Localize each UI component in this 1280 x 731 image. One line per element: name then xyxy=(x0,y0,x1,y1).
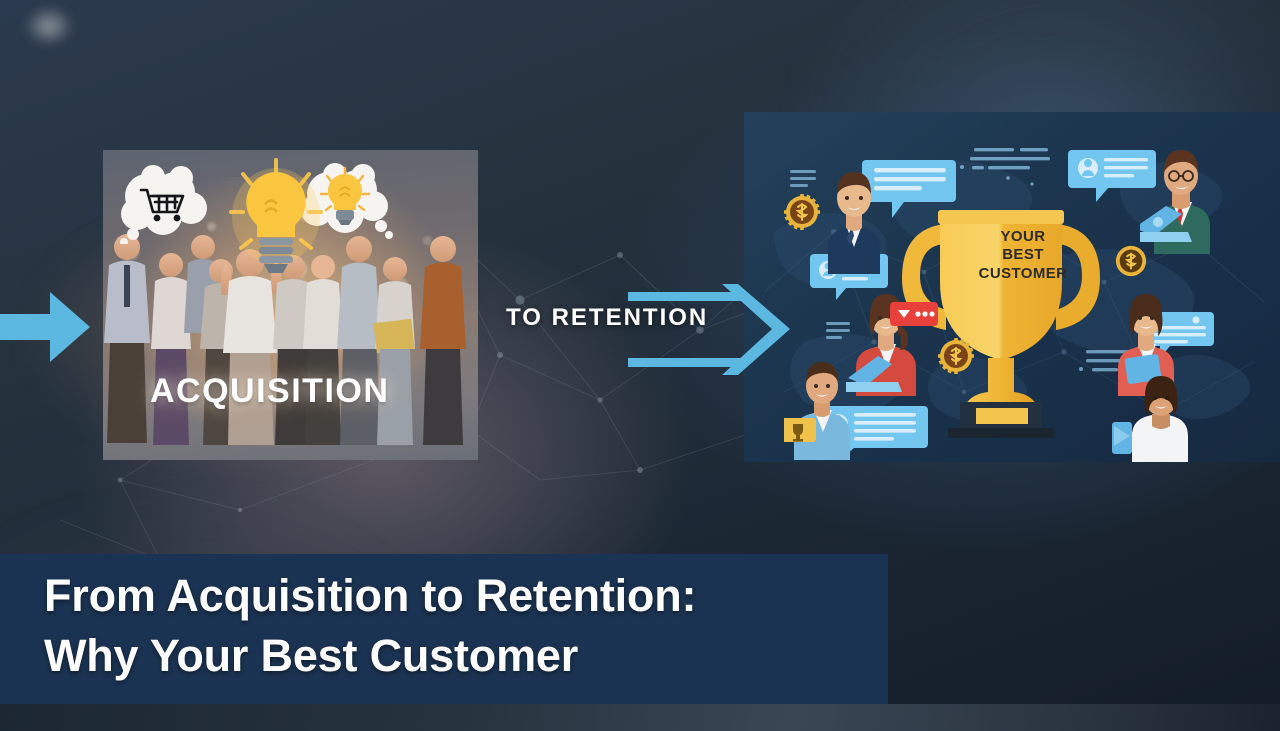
coin-award-icon xyxy=(1114,244,1148,278)
award-card-icon xyxy=(784,418,816,442)
smartphone-icon xyxy=(1112,422,1132,454)
slide-title-line2: Why Your Best Customer xyxy=(44,626,696,686)
bottom-background-strip xyxy=(0,704,1280,731)
person-illustration-glasses xyxy=(1140,142,1226,254)
coin-award-icon xyxy=(938,338,974,374)
decorative-text-lines xyxy=(958,146,1078,188)
heart-notification-icon xyxy=(890,302,938,326)
person-illustration-phone xyxy=(1110,370,1206,462)
coin-award-icon xyxy=(784,194,820,230)
trophy-label-line3: CUSTOMER xyxy=(963,265,1083,283)
person-illustration-award xyxy=(784,356,866,460)
lightbulb-icon xyxy=(231,160,321,273)
trophy-label-line1: YOUR xyxy=(963,228,1083,246)
slide-canvas: ACQUISITION TO RETENTION xyxy=(0,0,1280,731)
slide-title-line1: From Acquisition to Retention: xyxy=(44,566,696,626)
arrow-right-icon xyxy=(0,288,92,366)
trophy-label-line2: BEST xyxy=(963,246,1083,264)
center-lightbulb xyxy=(221,154,331,286)
slide-title: From Acquisition to Retention: Why Your … xyxy=(44,566,696,686)
thought-bubble-cart xyxy=(117,164,213,244)
trophy-label: YOUR BEST CUSTOMER xyxy=(963,228,1083,283)
acquisition-label: ACQUISITION xyxy=(150,372,389,411)
retention-label: TO RETENTION xyxy=(506,304,708,332)
person-illustration-suit xyxy=(816,162,892,274)
acquisition-photo xyxy=(103,150,478,460)
